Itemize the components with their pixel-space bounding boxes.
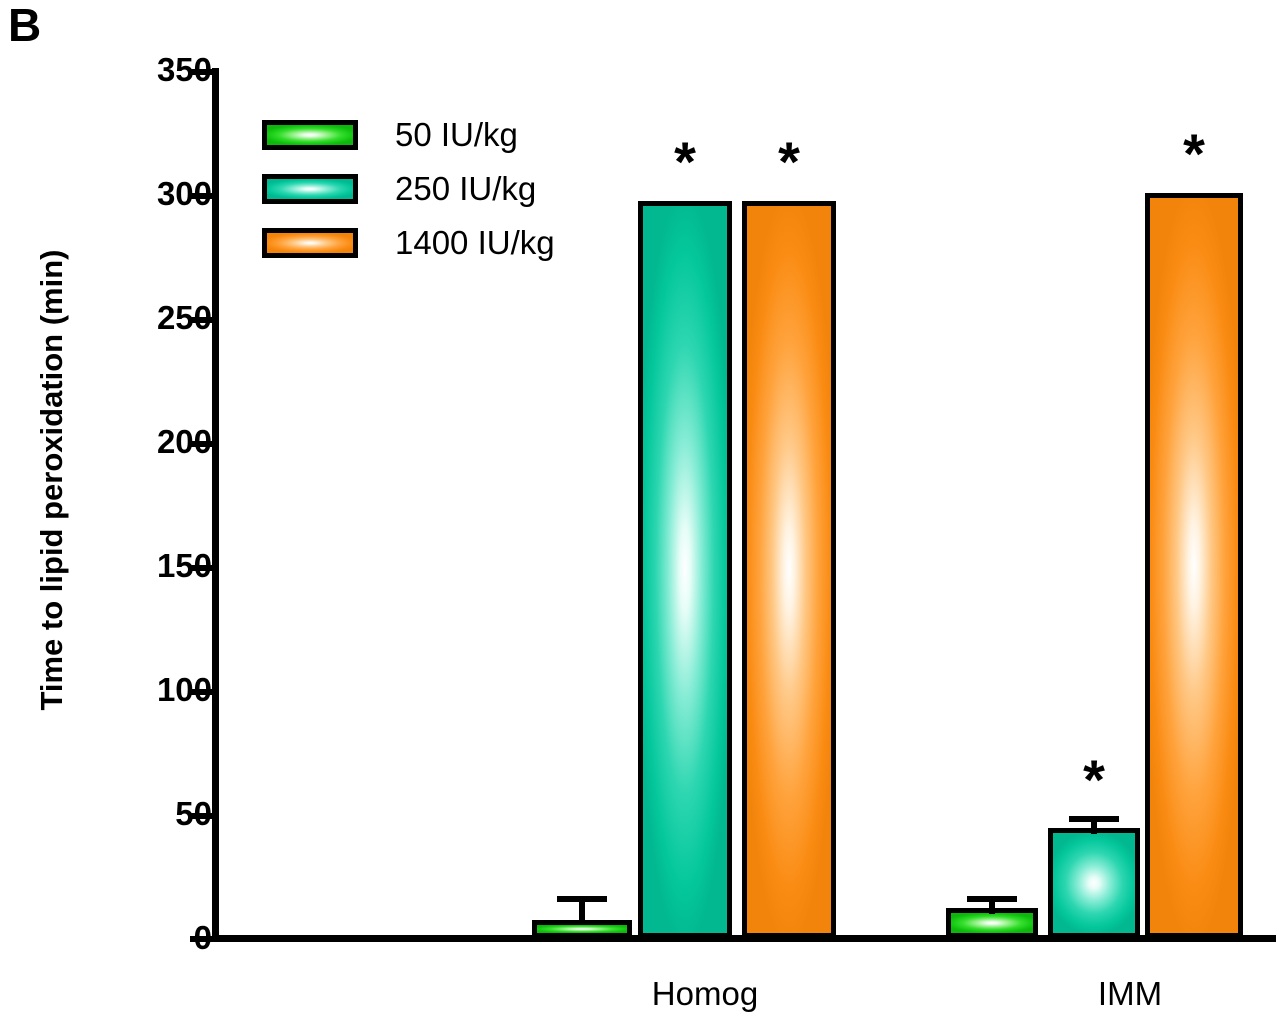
y-axis-tick-100 [190,689,214,695]
bar-imm-250[interactable] [1048,828,1140,938]
y-axis-tick-300 [190,193,214,199]
bar-imm-1400[interactable] [1145,193,1243,938]
legend-label-250: 250 IU/kg [395,166,536,212]
y-axis-tick-200 [190,441,214,447]
legend-label-1400: 1400 IU/kg [395,220,555,266]
y-axis-tick-0 [190,936,214,942]
significance-star-imm-250: * [1059,752,1129,808]
bar-homog-250[interactable] [638,201,732,938]
bar-homog-50[interactable] [532,920,632,938]
y-axis-tick-50 [190,813,214,819]
significance-star-homog-1400: * [754,134,824,190]
legend-label-50: 50 IU/kg [395,112,518,158]
y-axis-spine [212,68,219,942]
y-axis-tick-150 [190,565,214,571]
y-axis-tick-350 [190,69,214,75]
significance-star-imm-1400: * [1159,126,1229,182]
plot-area: * * * * 50 IU/kg 250 IU/kg 1400 IU/kg [212,68,1276,942]
x-axis-label-imm: IMM [1000,975,1260,1013]
y-axis-tick-250 [190,317,214,323]
error-bar-cap-homog-50 [557,896,607,902]
legend-swatch-1400 [262,228,358,258]
legend-swatch-250 [262,174,358,204]
error-bar-cap-imm-50 [967,896,1017,902]
bar-homog-1400[interactable] [742,201,836,938]
error-bar-cap-imm-250 [1069,816,1119,822]
legend-swatch-50 [262,120,358,150]
y-axis-title: Time to lipid peroxidation (min) [34,130,70,830]
significance-star-homog-250: * [650,134,720,190]
panel-letter: B [8,2,41,48]
x-axis-label-homog: Homog [575,975,835,1013]
